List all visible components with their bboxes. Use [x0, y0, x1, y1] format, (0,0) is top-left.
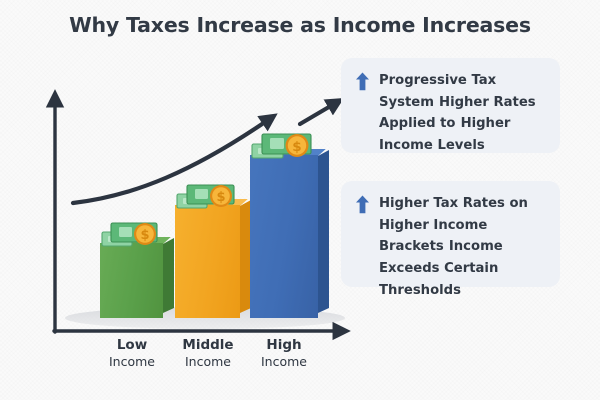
bar-high-income-side-face — [318, 150, 329, 313]
bar-chart: $ $ — [0, 0, 360, 400]
svg-text:$: $ — [140, 228, 149, 243]
svg-text:$: $ — [216, 190, 225, 205]
up-arrow-icon — [355, 195, 370, 218]
x-axis-label-middle-income: Middle Income — [166, 337, 250, 370]
x-axis-label-high-income-line2: Income — [243, 354, 325, 370]
bar-low-income-front-face — [100, 243, 163, 318]
callout-2-heading-line-1: Higher Tax Rates on — [379, 196, 528, 211]
bar-low-income-side-face — [163, 238, 174, 313]
money-stack-middle-income: $ — [176, 183, 244, 211]
bar-middle-income[interactable] — [175, 205, 240, 318]
dollar-coin-icon: $ — [134, 223, 156, 245]
money-stack-low-income: $ — [101, 221, 167, 249]
x-axis-label-middle-income-line2: Income — [166, 354, 250, 370]
svg-text:$: $ — [292, 139, 301, 155]
callout-higher-tax-rates[interactable]: Higher Tax Rates on Higher Income Bracke… — [341, 181, 560, 287]
bar-low-income[interactable] — [100, 243, 163, 318]
bar-high-income-front-face — [250, 155, 318, 318]
bar-high-income[interactable] — [250, 155, 318, 318]
callout-progressive-tax-system-text: Progressive Tax System Higher Rates Appl… — [379, 69, 548, 156]
x-axis-label-low-income: Low Income — [91, 337, 173, 370]
x-axis-label-high-income-line1: High — [243, 337, 325, 354]
money-stack-high-income: $ — [251, 132, 321, 161]
up-arrow-icon — [355, 72, 370, 95]
dollar-coin-icon: $ — [286, 134, 309, 157]
x-axis-label-low-income-line1: Low — [91, 337, 173, 354]
x-axis-label-low-income-line2: Income — [91, 354, 173, 370]
callout-progressive-tax-system[interactable]: Progressive Tax System Higher Rates Appl… — [341, 58, 560, 153]
page-title: Why Taxes Increase as Income Increases — [0, 13, 600, 37]
trend-arrow-secondary — [300, 104, 334, 124]
bar-middle-income-front-face — [175, 205, 240, 318]
callout-higher-tax-rates-text: Higher Tax Rates on Higher Income Bracke… — [379, 192, 548, 301]
x-axis-label-middle-income-line1: Middle — [166, 337, 250, 354]
dollar-coin-icon: $ — [210, 185, 232, 207]
x-axis-label-high-income: High Income — [243, 337, 325, 370]
infographic-canvas: Why Taxes Increase as Income Increases — [0, 0, 600, 400]
callout-2-detail-line-2: Thresholds — [379, 283, 461, 298]
